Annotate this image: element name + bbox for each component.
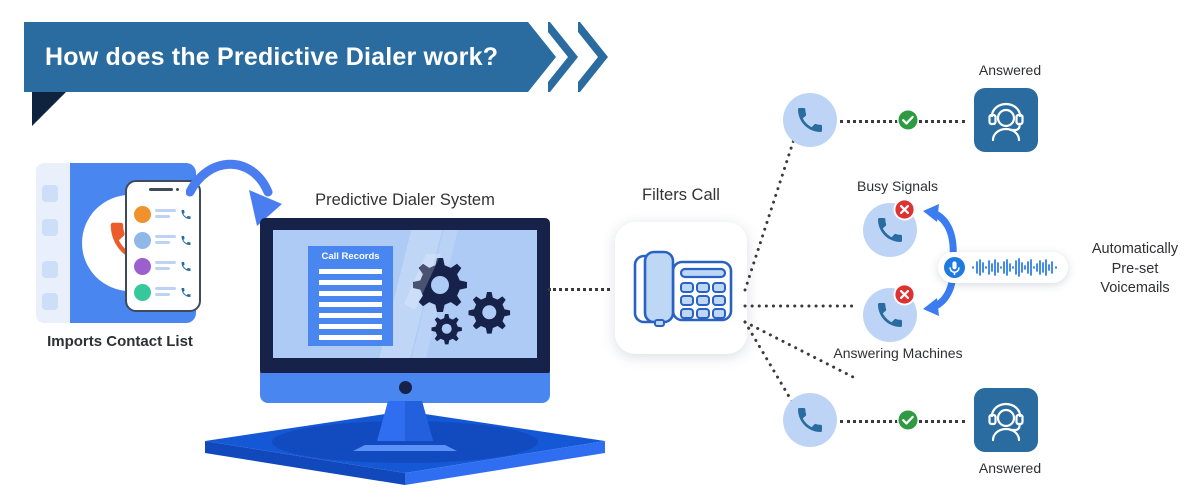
check-circle-icon [896,108,920,132]
doc-line [319,302,382,307]
contact-detail-line [155,241,170,244]
connector-system-to-filter [548,288,610,291]
contact-name-line [155,209,176,212]
headset-agent-icon [974,88,1038,152]
avatar [134,284,151,301]
x-circle-icon [893,283,916,306]
page-title: How does the Predictive Dialer work? [45,26,515,88]
banner-fold-corner [32,92,66,126]
book-ring [42,219,58,236]
outcome-label-answering-machines: Answering Machines [808,345,988,363]
call-bubble-answered-bottom [783,393,837,447]
outcome-label-answered-bottom: Answered [950,460,1070,478]
phone-speaker [149,188,173,191]
outcome-label-busy-signals: Busy Signals [830,178,965,196]
infographic-canvas: How does the Predictive Dialer work? [0,0,1200,500]
monitor-stand [205,401,605,493]
audio-waveform-icon [971,258,1061,277]
doc-line [319,269,382,274]
phone-camera [176,188,179,191]
monitor-screen: Call Records [273,230,537,358]
x-circle-icon [893,198,916,221]
contact-name-line [155,287,176,290]
call-records-document: Call Records [308,246,393,346]
monitor-power-dot [399,381,412,394]
contact-detail-line [155,267,170,270]
call-bubble-answered-top [783,93,837,147]
doc-line [319,280,382,285]
system-label: Predictive Dialer System [245,190,565,211]
desk-phone-card [615,222,747,354]
list-item [134,256,194,277]
doc-line [319,324,382,329]
list-item [134,282,194,303]
voicemail-label: Automatically Pre-set Voicemails [1075,240,1195,299]
contact-detail-line [155,215,170,218]
chevron-right-icon [578,22,622,92]
branch-connectors [735,110,915,420]
voicemail-label-line2: Pre-set [1075,260,1195,280]
book-ring [42,261,58,278]
list-item [134,230,194,251]
avatar [134,258,151,275]
contact-detail-line [155,293,170,296]
microphone-icon [944,257,965,278]
book-ring [42,185,58,202]
contact-name-line [155,235,176,238]
voicemail-label-line1: Automatically [1075,240,1195,260]
voicemail-pill [938,252,1068,283]
gears-icon [401,248,521,348]
imports-contact-list-label: Imports Contact List [20,333,220,352]
voicemail-label-line3: Voicemails [1075,279,1195,299]
desktop-monitor-icon: Call Records [205,218,605,493]
list-item [134,204,194,225]
outcome-label-answered-top: Answered [950,62,1070,80]
avatar [134,232,151,249]
avatar [134,206,151,223]
doc-line [319,335,382,340]
headset-agent-icon [974,388,1038,452]
check-circle-icon [896,408,920,432]
phone-handset-icon [180,286,192,299]
desk-phone-icon [629,244,734,334]
doc-line [319,291,382,296]
call-records-title: Call Records [308,251,393,262]
contact-name-line [155,261,176,264]
phone-handset-icon [180,260,192,273]
doc-line [319,313,382,318]
book-ring [42,293,58,310]
